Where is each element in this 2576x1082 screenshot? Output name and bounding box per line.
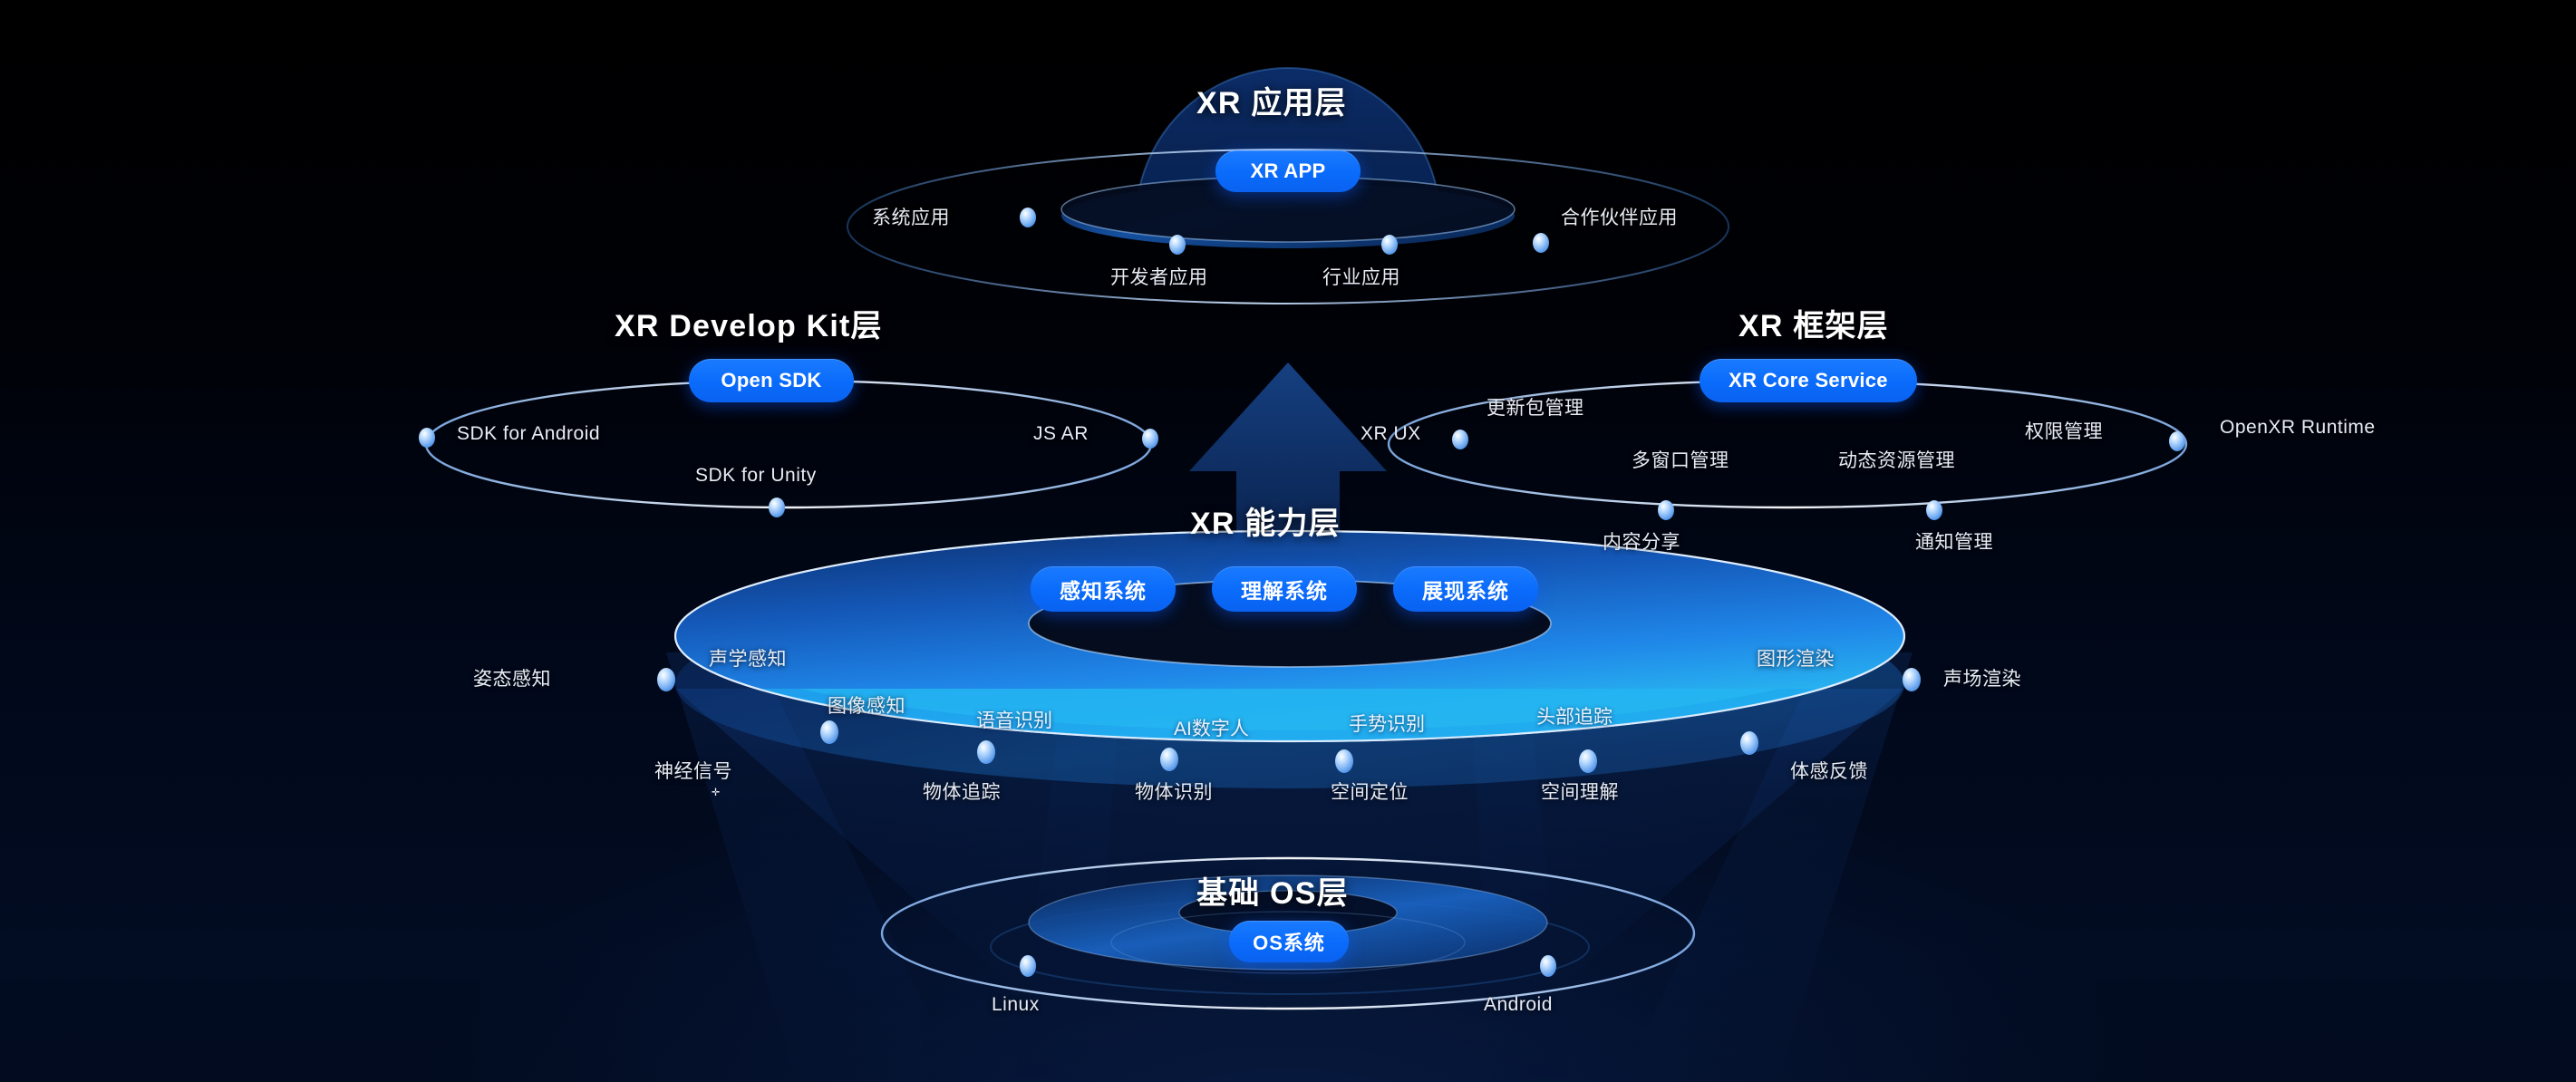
node-dot	[1452, 430, 1468, 449]
ring-label-speech-recognition: 语音识别	[976, 706, 1052, 733]
node-dot	[769, 498, 785, 517]
node-dot	[1540, 955, 1556, 977]
node-dot	[1926, 500, 1942, 520]
node-label-object-recognition: 物体识别	[1135, 778, 1213, 805]
node-label-multi-window-mgmt: 多窗口管理	[1632, 446, 1729, 473]
node-label-xr-ux: XR UX	[1361, 423, 1421, 445]
ring-label-ai-digital-human: AI数字人	[1174, 714, 1249, 741]
ring-label-head-tracking: 头部追踪	[1536, 702, 1612, 729]
node-label-linux: Linux	[992, 994, 1040, 1016]
pill-xr-core-service[interactable]: XR Core Service	[1700, 359, 1917, 402]
node-dot	[1142, 429, 1158, 449]
node-label-image-perception: 图像感知	[828, 691, 905, 719]
node-label-spatial-understanding: 空间理解	[1541, 778, 1619, 805]
node-dot	[1740, 731, 1758, 755]
node-dot	[820, 720, 838, 744]
node-label-system-app: 系统应用	[872, 203, 950, 230]
node-label-dynamic-resource-mgmt: 动态资源管理	[1838, 446, 1955, 473]
node-label-acoustic-perception: 声学感知	[709, 644, 787, 671]
node-dot	[1533, 233, 1549, 253]
node-label-sdk-for-unity: SDK for Unity	[695, 465, 817, 487]
node-label-developer-app: 开发者应用	[1110, 263, 1208, 290]
node-dot	[1579, 749, 1597, 773]
layer-title-develop-kit: XR Develop Kit层	[615, 301, 883, 345]
node-label-permission-mgmt: 权限管理	[2025, 417, 2103, 444]
node-label-js-ar: JS AR	[1033, 423, 1089, 445]
ring-label-gesture-recognition: 手势识别	[1349, 710, 1425, 737]
node-dot	[1169, 235, 1186, 255]
node-label-industry-app: 行业应用	[1322, 263, 1400, 290]
node-label-content-sharing: 内容分享	[1603, 527, 1680, 555]
pill-xr-app[interactable]: XR APP	[1215, 150, 1361, 192]
node-dot	[1903, 668, 1921, 691]
node-label-object-tracking: 物体追踪	[923, 778, 1001, 805]
node-label-notification-mgmt: 通知管理	[1915, 527, 1993, 555]
pill-presentation-system[interactable]: 展现系统	[1393, 566, 1538, 612]
app-inner-disk	[1061, 183, 1515, 248]
node-dot	[1381, 235, 1398, 255]
node-dot	[1020, 955, 1036, 977]
layer-title-capability: XR 能力层	[1190, 498, 1341, 543]
node-label-graphics-rendering: 图形渲染	[1757, 644, 1835, 671]
layer-title-application: XR 应用层	[1196, 78, 1347, 122]
crosshair-cursor-icon: ✛	[709, 785, 722, 798]
node-dot	[2169, 431, 2185, 451]
node-dot	[977, 740, 995, 764]
node-label-android: Android	[1484, 994, 1553, 1016]
node-dot	[1658, 500, 1674, 520]
node-dot	[419, 428, 435, 448]
node-label-neural-signal: 神经信号	[654, 757, 732, 784]
node-dot	[1020, 208, 1036, 227]
pill-open-sdk[interactable]: Open SDK	[689, 359, 854, 402]
node-label-update-package-mgmt: 更新包管理	[1487, 393, 1584, 420]
layer-title-os: 基础 OS层	[1196, 868, 1349, 913]
node-dot	[657, 668, 675, 691]
node-label-openxr-runtime: OpenXR Runtime	[2220, 417, 2376, 439]
node-label-partner-app: 合作伙伴应用	[1561, 203, 1678, 230]
node-label-haptic-feedback: 体感反馈	[1790, 757, 1868, 784]
pill-os-system[interactable]: OS系统	[1229, 921, 1349, 962]
node-label-pose-perception: 姿态感知	[473, 664, 551, 691]
node-label-sdk-for-android: SDK for Android	[457, 423, 600, 445]
pill-perception-system[interactable]: 感知系统	[1031, 566, 1176, 612]
node-label-spatial-positioning: 空间定位	[1331, 778, 1409, 805]
pill-understanding-system[interactable]: 理解系统	[1212, 566, 1357, 612]
node-label-sound-field-rendering: 声场渲染	[1943, 664, 2021, 691]
node-dot	[1160, 748, 1178, 771]
node-dot	[1335, 749, 1353, 773]
layer-title-framework: XR 框架层	[1738, 301, 1889, 345]
xr-architecture-diagram: XR 应用层 XR APP 系统应用 开发者应用 行业应用 合作伙伴应用 XR …	[0, 0, 2576, 1082]
